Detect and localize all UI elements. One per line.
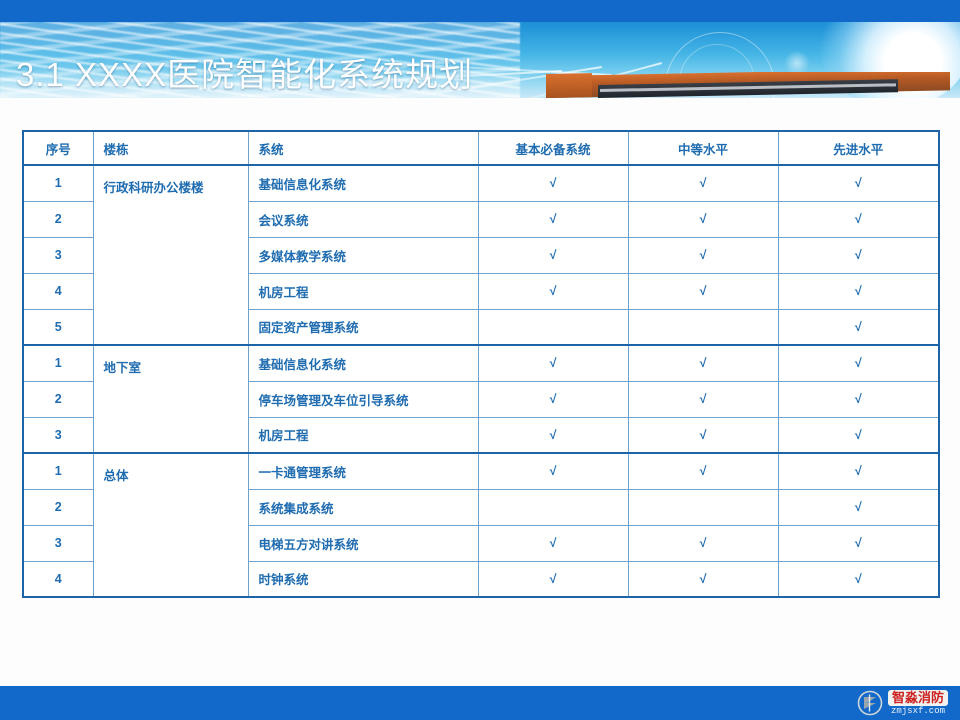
cell-check-medium: √ bbox=[628, 381, 778, 417]
page-title: 3.1 XXXX医院智能化系统规划 bbox=[16, 48, 473, 96]
cell-check-medium bbox=[628, 489, 778, 525]
cell-system: 系统集成系统 bbox=[248, 489, 478, 525]
column-header-building: 楼栋 bbox=[93, 131, 248, 165]
cell-check-advanced: √ bbox=[778, 165, 939, 201]
cell-check-basic: √ bbox=[478, 237, 628, 273]
cell-building: 行政科研办公楼楼 bbox=[93, 165, 248, 345]
cell-check-advanced: √ bbox=[778, 273, 939, 309]
cell-check-basic bbox=[478, 489, 628, 525]
cell-system: 停车场管理及车位引导系统 bbox=[248, 381, 478, 417]
cell-check-advanced: √ bbox=[778, 201, 939, 237]
cell-check-medium: √ bbox=[628, 453, 778, 489]
cell-index: 4 bbox=[23, 561, 93, 597]
cell-index: 2 bbox=[23, 489, 93, 525]
cell-index: 3 bbox=[23, 417, 93, 453]
cell-check-advanced: √ bbox=[778, 309, 939, 345]
cell-check-basic: √ bbox=[478, 525, 628, 561]
building-left-wing bbox=[546, 73, 592, 98]
cell-system: 多媒体教学系统 bbox=[248, 237, 478, 273]
cell-index: 5 bbox=[23, 309, 93, 345]
brand-name: 智淼消防 bbox=[888, 690, 948, 706]
cell-building: 地下室 bbox=[93, 345, 248, 453]
cell-system: 机房工程 bbox=[248, 273, 478, 309]
brand-site-url: zmjsxf.com bbox=[888, 707, 948, 716]
cell-check-basic: √ bbox=[478, 273, 628, 309]
cell-system: 基础信息化系统 bbox=[248, 165, 478, 201]
table-row: 1行政科研办公楼楼基础信息化系统√√√ bbox=[23, 165, 939, 201]
cell-check-advanced: √ bbox=[778, 453, 939, 489]
top-accent-bar bbox=[0, 0, 960, 22]
column-header-system: 系统 bbox=[248, 131, 478, 165]
cell-check-advanced: √ bbox=[778, 345, 939, 381]
cell-check-advanced: √ bbox=[778, 237, 939, 273]
cell-check-medium: √ bbox=[628, 345, 778, 381]
cell-check-advanced: √ bbox=[778, 561, 939, 597]
cell-system: 电梯五方对讲系统 bbox=[248, 525, 478, 561]
cell-check-medium: √ bbox=[628, 561, 778, 597]
cell-check-advanced: √ bbox=[778, 525, 939, 561]
cell-check-basic: √ bbox=[478, 201, 628, 237]
plan-table-container: 序号 楼栋 系统 基本必备系统 中等水平 先进水平 1行政科研办公楼楼基础信息化… bbox=[22, 130, 938, 598]
column-header-index: 序号 bbox=[23, 131, 93, 165]
cell-check-basic: √ bbox=[478, 561, 628, 597]
cell-check-basic: √ bbox=[478, 381, 628, 417]
cell-check-basic: √ bbox=[478, 165, 628, 201]
cell-check-basic: √ bbox=[478, 345, 628, 381]
cell-building: 总体 bbox=[93, 453, 248, 597]
column-header-advanced: 先进水平 bbox=[778, 131, 939, 165]
cell-check-basic bbox=[478, 309, 628, 345]
cell-check-medium: √ bbox=[628, 525, 778, 561]
watermark-texts: 智淼消防 zmjsxf.com bbox=[888, 690, 948, 716]
cell-check-advanced: √ bbox=[778, 489, 939, 525]
cell-check-medium: √ bbox=[628, 165, 778, 201]
column-header-medium: 中等水平 bbox=[628, 131, 778, 165]
table-header-row: 序号 楼栋 系统 基本必备系统 中等水平 先进水平 bbox=[23, 131, 939, 165]
cell-check-medium: √ bbox=[628, 237, 778, 273]
cell-system: 一卡通管理系统 bbox=[248, 453, 478, 489]
cell-system: 固定资产管理系统 bbox=[248, 309, 478, 345]
cell-check-basic: √ bbox=[478, 453, 628, 489]
cell-index: 4 bbox=[23, 273, 93, 309]
cell-check-advanced: √ bbox=[778, 417, 939, 453]
table-row: 1地下室基础信息化系统√√√ bbox=[23, 345, 939, 381]
cell-index: 2 bbox=[23, 201, 93, 237]
building-silhouette bbox=[540, 72, 960, 98]
table-head: 序号 楼栋 系统 基本必备系统 中等水平 先进水平 bbox=[23, 131, 939, 165]
cell-system: 机房工程 bbox=[248, 417, 478, 453]
cell-check-medium: √ bbox=[628, 417, 778, 453]
cell-system: 会议系统 bbox=[248, 201, 478, 237]
brand-logo-icon bbox=[857, 690, 883, 716]
cell-check-basic: √ bbox=[478, 417, 628, 453]
cell-check-advanced: √ bbox=[778, 381, 939, 417]
cell-index: 1 bbox=[23, 453, 93, 489]
cell-system: 基础信息化系统 bbox=[248, 345, 478, 381]
footer-bar: 智淼消防 zmjsxf.com bbox=[0, 686, 960, 720]
cell-index: 2 bbox=[23, 381, 93, 417]
table-body: 1行政科研办公楼楼基础信息化系统√√√2会议系统√√√3多媒体教学系统√√√4机… bbox=[23, 165, 939, 597]
slide: 3.1 XXXX医院智能化系统规划 序号 楼栋 系统 基本必备系统 中等水平 先… bbox=[0, 0, 960, 720]
cell-check-medium: √ bbox=[628, 273, 778, 309]
column-header-basic: 基本必备系统 bbox=[478, 131, 628, 165]
cell-index: 3 bbox=[23, 525, 93, 561]
cell-index: 3 bbox=[23, 237, 93, 273]
table-row: 1总体一卡通管理系统√√√ bbox=[23, 453, 939, 489]
watermark: 智淼消防 zmjsxf.com bbox=[857, 690, 948, 716]
cell-index: 1 bbox=[23, 345, 93, 381]
cell-check-medium: √ bbox=[628, 201, 778, 237]
cell-index: 1 bbox=[23, 165, 93, 201]
plan-table: 序号 楼栋 系统 基本必备系统 中等水平 先进水平 1行政科研办公楼楼基础信息化… bbox=[22, 130, 940, 598]
cell-check-medium bbox=[628, 309, 778, 345]
cell-system: 时钟系统 bbox=[248, 561, 478, 597]
